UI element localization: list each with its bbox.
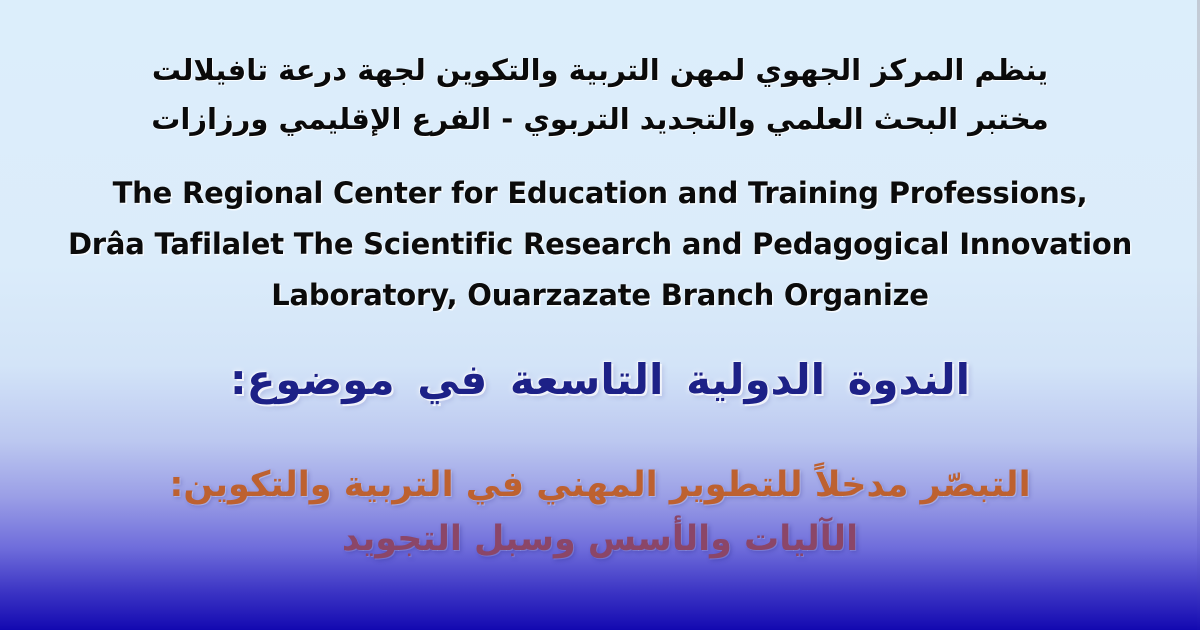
organizer-arabic-block: ينظم المركز الجهوي لمهن التربية والتكوين… bbox=[0, 46, 1200, 144]
organizer-english-line-2: Drâa Tafilalet The Scientific Research a… bbox=[34, 219, 1166, 270]
event-theme-line-1: التبصّر مدخلاً للتطوير المهني في التربية… bbox=[34, 458, 1166, 512]
event-headline-block: الندوة الدولية التاسعة في موضوع: bbox=[0, 352, 1200, 408]
event-theme-block: التبصّر مدخلاً للتطوير المهني في التربية… bbox=[0, 458, 1200, 566]
organizer-english-block: The Regional Center for Education and Tr… bbox=[0, 168, 1200, 321]
conference-banner: ينظم المركز الجهوي لمهن التربية والتكوين… bbox=[0, 0, 1200, 630]
organizer-arabic-line-1: ينظم المركز الجهوي لمهن التربية والتكوين… bbox=[34, 46, 1166, 95]
organizer-arabic-line-2: مختبر البحث العلمي والتجديد التربوي - ال… bbox=[34, 95, 1166, 144]
organizer-english-line-1: The Regional Center for Education and Tr… bbox=[34, 168, 1166, 219]
event-theme-line-2: الآليات والأسس وسبل التجويد bbox=[34, 512, 1166, 566]
organizer-english-line-3: Laboratory, Ouarzazate Branch Organize bbox=[34, 270, 1166, 321]
event-headline: الندوة الدولية التاسعة في موضوع: bbox=[34, 352, 1166, 408]
